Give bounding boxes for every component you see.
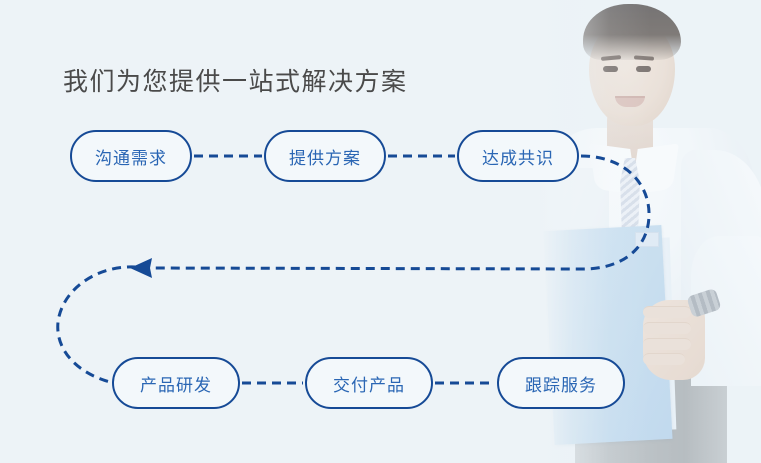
page-title: 我们为您提供一站式解决方案 — [63, 62, 408, 98]
flow-node-label: 交付产品 — [333, 371, 405, 396]
flow-node-communicate-requirements[interactable]: 沟通需求 — [70, 130, 192, 182]
service-process-banner: 我们为您提供一站式解决方案 沟通需求 提供方案 达成共识 产品研发 交付产品 跟… — [0, 0, 761, 463]
flow-node-reach-consensus[interactable]: 达成共识 — [457, 130, 579, 182]
flow-node-label: 跟踪服务 — [525, 371, 597, 396]
flow-node-deliver-product[interactable]: 交付产品 — [305, 357, 433, 409]
flow-node-follow-up-service[interactable]: 跟踪服务 — [497, 357, 625, 409]
connector-right-wrap — [152, 156, 649, 269]
flow-node-label: 沟通需求 — [95, 144, 167, 169]
flow-node-product-development[interactable]: 产品研发 — [112, 357, 240, 409]
flow-node-label: 达成共识 — [482, 144, 554, 169]
flow-node-label: 产品研发 — [140, 371, 212, 396]
flow-node-label: 提供方案 — [289, 144, 361, 169]
flow-node-provide-solution[interactable]: 提供方案 — [264, 130, 386, 182]
